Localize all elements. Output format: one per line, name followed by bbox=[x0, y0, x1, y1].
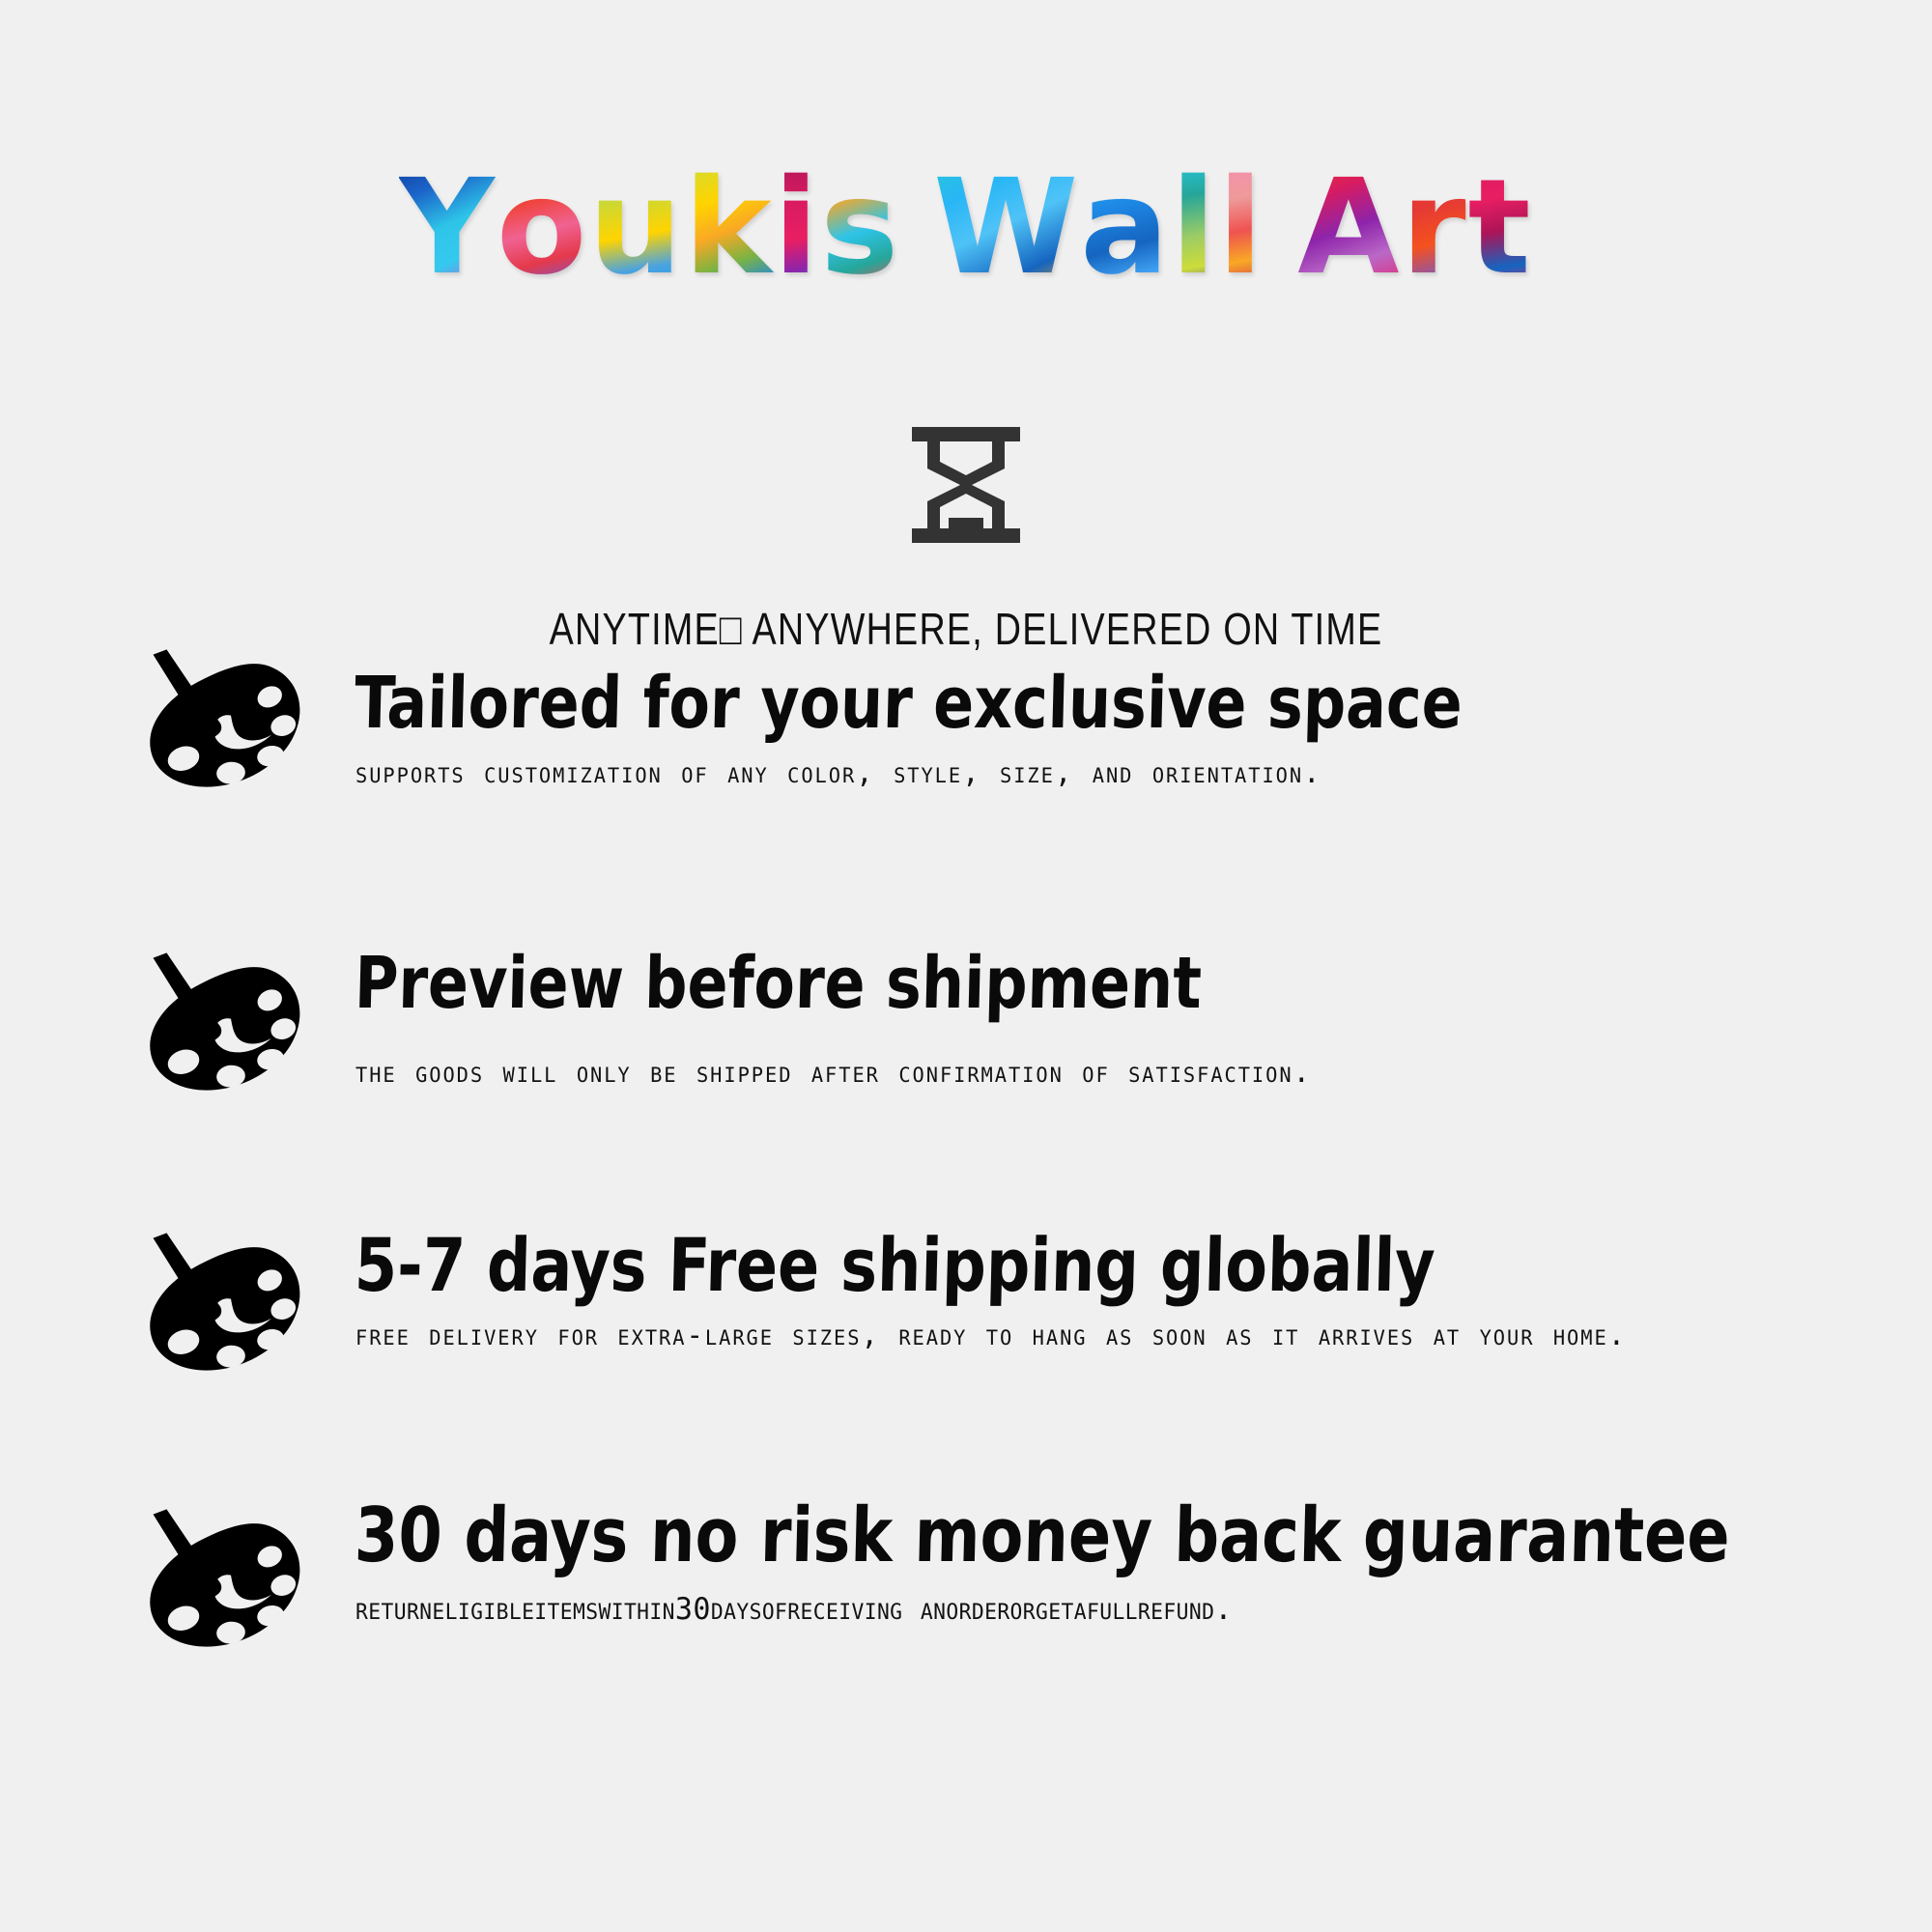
feature-subtitle: Returneligibleitemswithin30daysofreceivi… bbox=[355, 1585, 1827, 1634]
feature-body: 5-7 days Free shipping globally Free del… bbox=[355, 1227, 1872, 1360]
feature-title: Tailored for your exclusive space bbox=[354, 667, 1766, 741]
hourglass-icon bbox=[910, 425, 1022, 545]
feature-subtitle: Free delivery for extra-large sizes, rea… bbox=[355, 1313, 1827, 1360]
brand-letter: l bbox=[1218, 162, 1265, 294]
brand-letter: Y bbox=[399, 162, 496, 294]
palette-icon bbox=[143, 1507, 312, 1652]
brand-letter: A bbox=[1297, 162, 1401, 294]
feature-body: Preview before shipment The goods will o… bbox=[355, 947, 1872, 1097]
brand-letter: r bbox=[1402, 162, 1468, 294]
brand-logo: YoukisWallArt bbox=[0, 162, 1932, 294]
feature-subtitle: The goods will only be shipped after con… bbox=[355, 1050, 1827, 1097]
brand-letter: k bbox=[684, 162, 773, 294]
promo-banner: YoukisWallArt ANYTIME□ ANYWHERE, DELIVER… bbox=[0, 0, 1932, 1932]
brand-letter: l bbox=[1171, 162, 1218, 294]
brand-letter: u bbox=[588, 162, 684, 294]
brand-letter: t bbox=[1468, 162, 1533, 294]
brand-letter: W bbox=[933, 162, 1080, 294]
hourglass-icon-wrap bbox=[0, 425, 1932, 545]
palette-icon bbox=[143, 951, 312, 1095]
feature-body: 30 days no risk money back guarantee Ret… bbox=[355, 1497, 1872, 1634]
feature-body: Tailored for your exclusive space Suppor… bbox=[355, 667, 1872, 798]
brand-letter: s bbox=[820, 162, 900, 294]
palette-icon bbox=[143, 1231, 312, 1376]
feature-subtitle: Supports customization of any color, sty… bbox=[355, 751, 1827, 798]
feature-title: Preview before shipment bbox=[354, 947, 1766, 1021]
brand-letter: o bbox=[497, 162, 588, 294]
tagline: ANYTIME□ ANYWHERE, DELIVERED ON TIME bbox=[174, 603, 1758, 655]
feature-title: 5-7 days Free shipping globally bbox=[354, 1227, 1766, 1303]
brand-letter: i bbox=[774, 162, 821, 294]
brand-letter: a bbox=[1080, 162, 1171, 294]
palette-icon bbox=[143, 647, 312, 792]
feature-title: 30 days no risk money back guarantee bbox=[354, 1497, 1766, 1576]
